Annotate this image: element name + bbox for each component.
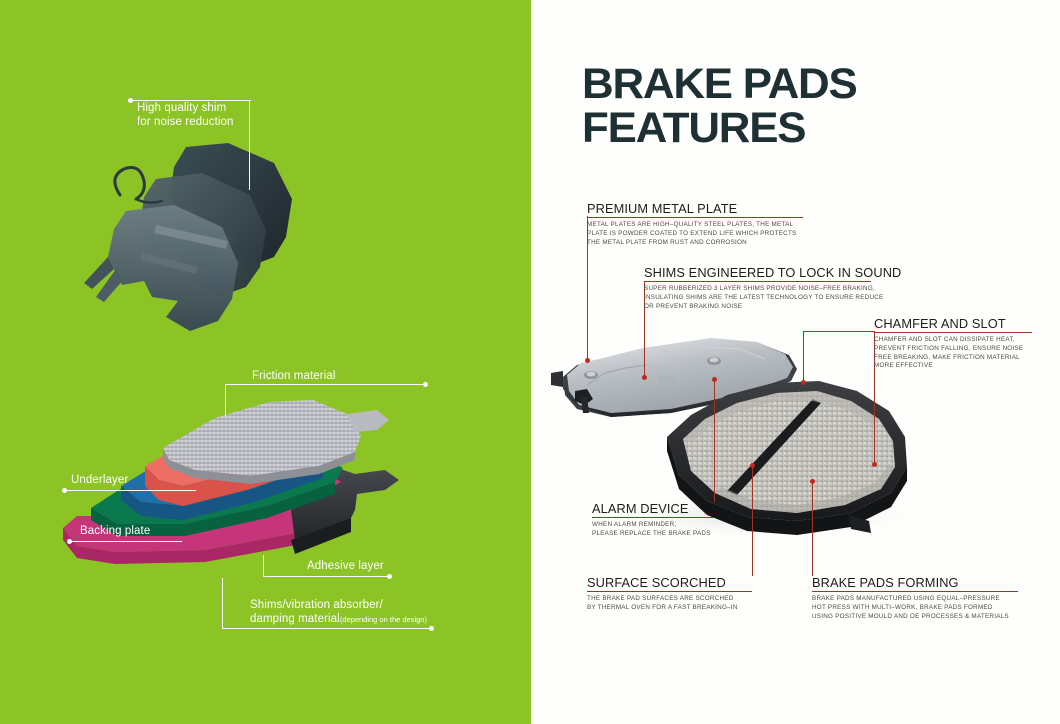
annotation-surface-scorched: SURFACE SCORCHED THE BRAKE PAD SURFACES …: [587, 575, 752, 613]
callout-leader-horizontal: [133, 100, 251, 101]
shim-stack-illustration: [78, 133, 313, 343]
annotation-heading: SURFACE SCORCHED: [587, 575, 752, 590]
annotation-shims-engineered: SHIMS ENGINEERED TO LOCK IN SOUND SUPER …: [644, 265, 901, 311]
annotation-body: METAL PLATES ARE HIGH–QUALITY STEEL PLAT…: [587, 221, 803, 247]
annotation-heading: SHIMS ENGINEERED TO LOCK IN SOUND: [644, 265, 901, 280]
callout-adhesive-layer: Adhesive layer: [307, 560, 384, 574]
callout-leader-vertical: [249, 100, 250, 190]
chamfer-leader-dot-left: [801, 380, 806, 385]
callout-underlayer: Underlayer: [71, 474, 128, 488]
annotation-alarm-device: ALARM DEVICE WHEN ALARM REMINDER, PLEASE…: [592, 501, 714, 539]
brake-pads-forming-leader: [812, 482, 813, 576]
page-title: BRAKE PADS FEATURES: [582, 62, 1060, 150]
annotation-chamfer-and-slot: CHAMFER AND SLOT CHAMFER AND SLOT CAN DI…: [874, 316, 1032, 371]
annotation-brake-pads-forming: BRAKE PADS FORMING BRAKE PADS MANUFACTUR…: [812, 575, 1018, 621]
callout-shims-vibration-absorber: Shims/vibration absorber/ damping materi…: [250, 598, 427, 627]
callout-dot: [128, 98, 133, 103]
annotation-body: WHEN ALARM REMINDER, PLEASE REPLACE THE …: [592, 521, 714, 538]
annotation-body: SUPER RUBBERIZED 3 LAYER SHIMS PROVIDE N…: [644, 285, 901, 311]
surface-scorched-leader-dot: [750, 463, 755, 468]
shims-callout-line-1: Shims/vibration absorber/: [250, 599, 383, 611]
backing-plate-leader-horizontal: [72, 541, 182, 542]
callout-high-quality-shim: High quality shim for noise reduction: [137, 102, 234, 129]
annotation-rule: [592, 517, 714, 518]
adhesive-leader-dot: [387, 574, 392, 579]
annotation-heading: PREMIUM METAL PLATE: [587, 201, 803, 216]
backing-plate-leader-dot: [67, 539, 72, 544]
callout-line-2: for noise reduction: [137, 116, 234, 128]
annotation-rule: [644, 281, 871, 282]
shims-leader-dot: [642, 375, 647, 380]
chamfer-leader-dot-right: [872, 462, 877, 467]
callout-line-1: High quality shim: [137, 102, 226, 114]
callout-friction-material: Friction material: [252, 370, 336, 384]
annotation-body: CHAMFER AND SLOT CAN DISSIPATE HEAT, PRE…: [874, 336, 1032, 370]
annotation-rule: [587, 217, 803, 218]
left-green-panel: High quality shim for noise reduction: [0, 0, 531, 724]
annotation-heading: BRAKE PADS FORMING: [812, 575, 1018, 590]
alarm-leader: [714, 380, 715, 502]
adhesive-leader-vertical: [263, 555, 264, 577]
brake-pads-forming-leader-dot: [810, 479, 815, 484]
surface-scorched-leader: [752, 466, 753, 576]
shims-leader-vertical: [222, 578, 223, 629]
shims-callout-note: (depending on the design): [340, 615, 427, 624]
friction-leader-vertical: [225, 384, 226, 416]
annotation-premium-metal-plate: PREMIUM METAL PLATE METAL PLATES ARE HIG…: [587, 201, 803, 247]
underlayer-leader-horizontal: [66, 490, 196, 491]
annotation-heading: ALARM DEVICE: [592, 501, 714, 516]
annotation-body: THE BRAKE PAD SURFACES ARE SCORCHED BY T…: [587, 595, 752, 612]
adhesive-leader-horizontal: [263, 576, 390, 577]
brake-pads-features-poster: High quality shim for noise reduction: [0, 0, 1060, 724]
friction-leader-horizontal: [225, 384, 425, 385]
alarm-leader-dot: [712, 377, 717, 382]
friction-leader-dot: [423, 382, 428, 387]
right-white-panel: BRAKE PADS FEATURES: [531, 0, 1060, 724]
annotation-rule: [874, 332, 1032, 333]
shims-callout-line-2: damping material: [250, 613, 340, 625]
annotation-rule: [812, 591, 1018, 592]
metal-plate-leader-dot: [585, 358, 590, 363]
annotation-rule: [587, 591, 752, 592]
chamfer-leader-horizontal: [803, 331, 875, 332]
underlayer-leader-dot: [62, 488, 67, 493]
chamfer-leader-left: [803, 331, 804, 383]
annotation-body: BRAKE PADS MANUFACTURED USING EQUAL–PRES…: [812, 595, 1018, 621]
shims-leader-horizontal: [222, 628, 432, 629]
shims-leader-dot: [429, 626, 434, 631]
callout-backing-plate: Backing plate: [80, 525, 150, 539]
annotation-heading: CHAMFER AND SLOT: [874, 316, 1032, 331]
